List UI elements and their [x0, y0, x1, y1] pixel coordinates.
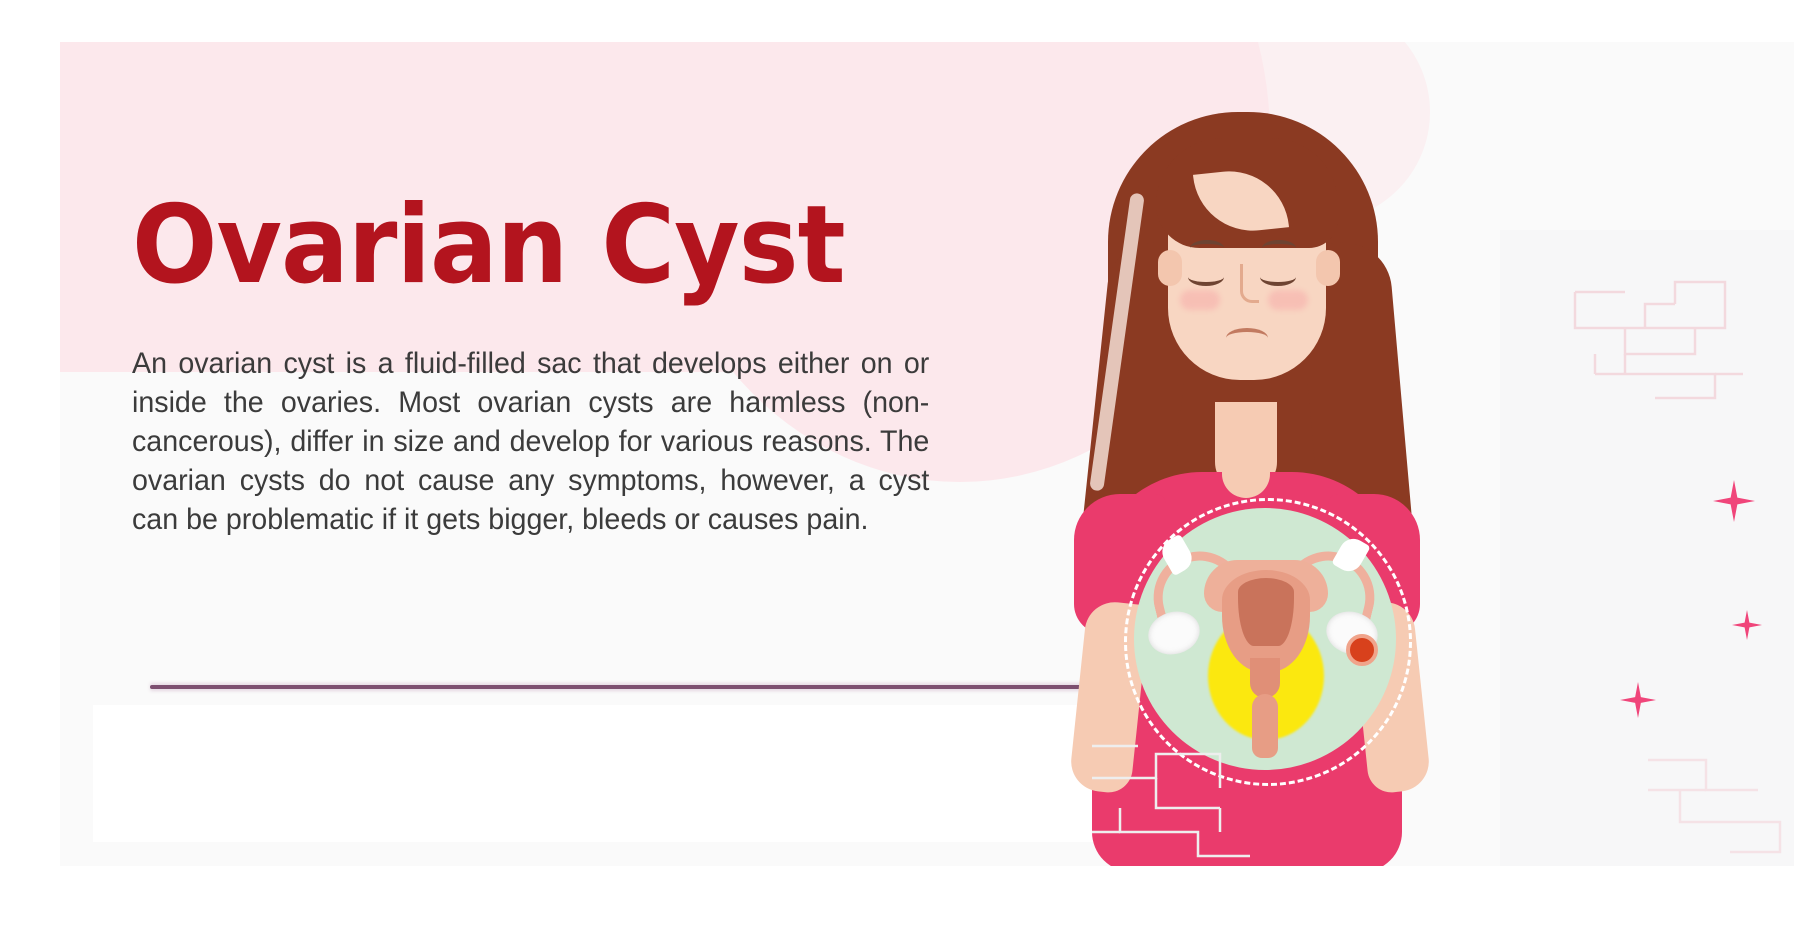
- uterine-cavity: [1238, 578, 1294, 646]
- section-divider: [150, 685, 1085, 689]
- blush-right: [1268, 290, 1308, 310]
- ear-left: [1158, 250, 1182, 286]
- infographic-card: Ovarian Cyst An ovarian cyst is a fluid-…: [60, 42, 1794, 866]
- cervix: [1250, 658, 1280, 698]
- nose: [1240, 264, 1259, 303]
- content-box: [93, 705, 1115, 842]
- woman-illustration: [1000, 42, 1560, 866]
- ear-right: [1316, 250, 1340, 286]
- page-title: Ovarian Cyst: [132, 192, 845, 300]
- mouth-frown: [1226, 328, 1268, 348]
- uterus-diagram: [1134, 508, 1396, 770]
- description-paragraph: An ovarian cyst is a fluid-filled sac th…: [132, 344, 929, 539]
- eyebrow-left: [1190, 240, 1224, 256]
- vaginal-canal: [1252, 694, 1278, 758]
- infographic-canvas: Ovarian Cyst An ovarian cyst is a fluid-…: [0, 0, 1794, 938]
- eye-right-closed: [1260, 268, 1296, 286]
- ovarian-cyst-marker: [1346, 634, 1378, 666]
- blush-left: [1180, 290, 1220, 310]
- eyebrow-right: [1262, 240, 1296, 256]
- eye-left-closed: [1188, 268, 1224, 286]
